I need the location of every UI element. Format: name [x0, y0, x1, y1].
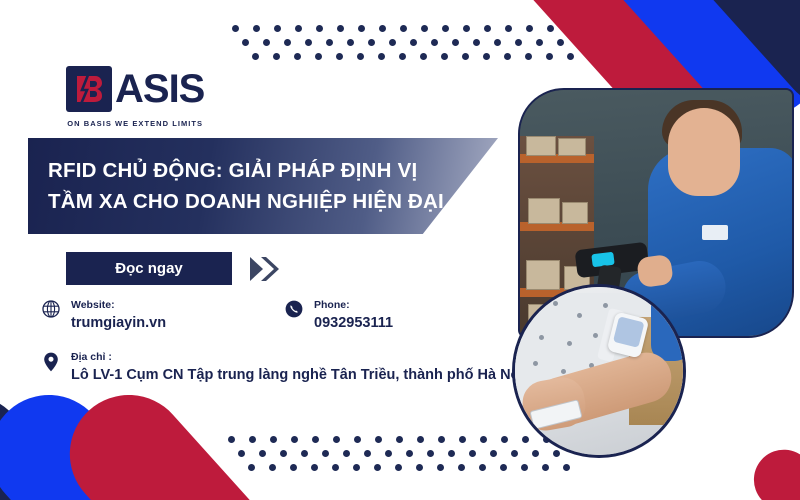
gown-dot: [553, 301, 558, 306]
gown-dot: [561, 369, 566, 374]
logo-wordmark: ASIS: [115, 69, 204, 109]
brand-logo: ASIS ON BASIS WE EXTEND LIMITS: [66, 66, 204, 128]
gown-dot: [593, 333, 598, 338]
rfid-marketing-banner: ASIS ON BASIS WE EXTEND LIMITS RFID CHỦ …: [0, 0, 800, 500]
shelf-box: [528, 198, 560, 224]
ribbon-bottom-right-crimson: [742, 437, 800, 500]
ribbon-bottom-left-navy: [0, 371, 140, 500]
gown-dot: [567, 341, 572, 346]
contact-phone[interactable]: Phone: 0932953111: [283, 298, 393, 334]
logo-b-monogram-icon: [74, 73, 104, 105]
shelf-box: [558, 138, 586, 156]
dot-grid-row: [232, 53, 588, 67]
headline-banner: RFID CHỦ ĐỘNG: GIẢI PHÁP ĐỊNH VỊ TẦM XA …: [28, 138, 498, 234]
gown-dot: [603, 303, 608, 308]
shelf-box: [526, 260, 560, 290]
worker-badge: [702, 225, 728, 240]
logo-row: ASIS: [66, 66, 204, 112]
patient-wristband-photo: [512, 284, 686, 458]
gown-dot: [539, 335, 544, 340]
background-blue-sleeve: [651, 284, 686, 361]
gown-dot: [529, 309, 534, 314]
contact-address-label: Địa chỉ :: [71, 350, 523, 365]
call-to-action: Đọc ngay: [66, 252, 283, 285]
hospital-scene: [515, 287, 683, 455]
contact-address-value: Lô LV-1 Cụm CN Tập trung làng nghề Tân T…: [71, 365, 523, 387]
gown-dot: [533, 361, 538, 366]
headline-line-2: TẦM XA CHO DOANH NGHIỆP HIỆN ĐẠI: [48, 186, 498, 217]
location-pin-icon: [40, 350, 62, 372]
phone-icon: [283, 298, 305, 318]
dot-grid-row: [232, 25, 588, 39]
contact-phone-label: Phone:: [314, 298, 393, 313]
contact-address: Địa chỉ : Lô LV-1 Cụm CN Tập trung làng …: [40, 350, 523, 386]
rfid-tag-face: [613, 316, 645, 348]
gown-dot: [577, 313, 582, 318]
shelf-box: [526, 136, 556, 156]
worker-head: [668, 108, 740, 196]
double-chevron-right-icon[interactable]: [249, 256, 283, 282]
logo-mark-icon: [66, 66, 112, 112]
contact-website-text: Website: trumgiayin.vn: [71, 298, 166, 334]
contact-website[interactable]: Website: trumgiayin.vn: [40, 298, 166, 334]
contact-phone-value[interactable]: 0932953111: [314, 313, 393, 335]
globe-icon: [40, 298, 62, 318]
contact-website-label: Website:: [71, 298, 166, 313]
logo-tagline: ON BASIS WE EXTEND LIMITS: [67, 119, 203, 128]
shelf-box: [562, 202, 588, 224]
ribbon-bottom-left-blue: [0, 371, 220, 500]
contact-phone-text: Phone: 0932953111: [314, 298, 393, 334]
headline-line-1: RFID CHỦ ĐỘNG: GIẢI PHÁP ĐỊNH VỊ: [48, 155, 498, 186]
dot-grid-row: [228, 464, 584, 478]
dot-grid-top: [232, 25, 588, 67]
contact-address-text: Địa chỉ : Lô LV-1 Cụm CN Tập trung làng …: [71, 350, 523, 386]
dot-grid-row: [232, 39, 588, 53]
read-now-button[interactable]: Đọc ngay: [66, 252, 232, 285]
contact-website-value[interactable]: trumgiayin.vn: [71, 313, 166, 335]
